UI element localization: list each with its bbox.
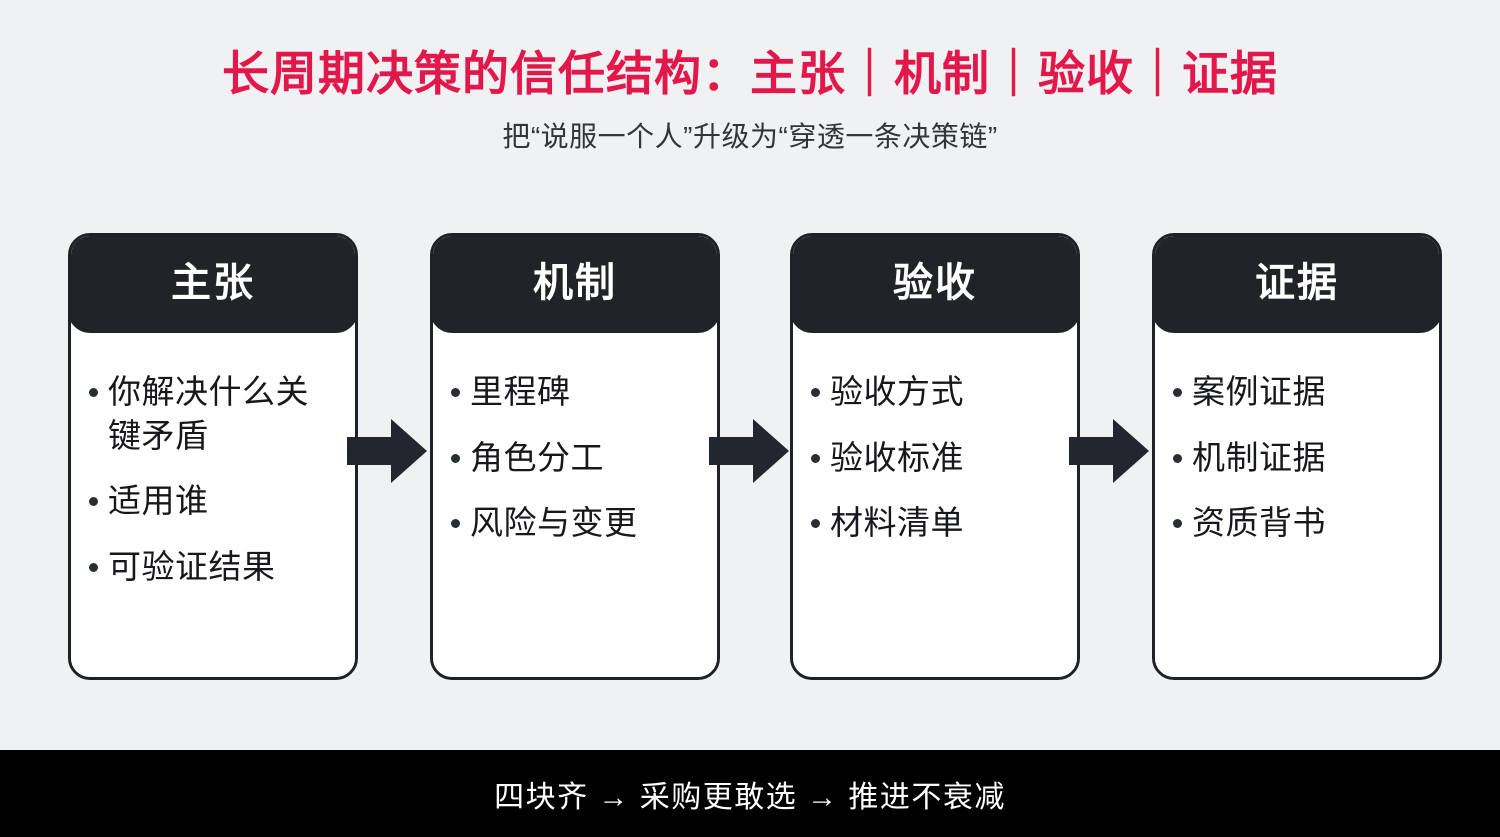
list-item: 机制证据 [1173,436,1425,480]
bullet-dot-icon [1173,519,1182,528]
footer-text: 四块齐 → 采购更敢选 → 推进不衰减 [494,772,1006,816]
bullet-dot-icon [1173,388,1182,397]
list-item: 材料清单 [811,501,1063,545]
card-acceptance[interactable]: 验收 验收方式 验收标准 材料清单 [790,233,1080,680]
list-item: 验收方式 [811,370,1063,414]
list-item-label: 验收标准 [830,436,964,480]
list-item-label: 材料清单 [830,501,964,545]
list-item: 案例证据 [1173,370,1425,414]
bullet-dot-icon [451,388,460,397]
list-item-label: 适用谁 [108,479,209,523]
bullet-dot-icon [451,454,460,463]
list-item: 你解决什么关键矛盾 [89,370,341,457]
card-mechanism-header-label: 机制 [533,263,617,303]
bullet-dot-icon [811,454,820,463]
list-item-label: 案例证据 [1192,370,1326,414]
card-claim-header-label: 主张 [171,263,255,303]
list-item: 适用谁 [89,479,341,523]
list-item: 资质背书 [1173,501,1425,545]
bullet-dot-icon [1173,454,1182,463]
arrow-right-icon [1069,415,1149,487]
list-item-label: 验收方式 [830,370,964,414]
list-item: 里程碑 [451,370,703,414]
list-item-label: 风险与变更 [470,501,638,545]
list-item: 验收标准 [811,436,1063,480]
bullet-dot-icon [89,563,98,572]
arrow-right-icon [347,415,427,487]
list-item-label: 角色分工 [470,436,604,480]
card-claim-header: 主张 [68,233,358,333]
list-item: 风险与变更 [451,501,703,545]
bullet-dot-icon [89,388,98,397]
card-claim-body: 你解决什么关键矛盾 适用谁 可验证结果 [71,336,355,677]
bullet-dot-icon [89,497,98,506]
slide-title: 长周期决策的信任结构：主张｜机制｜验收｜证据 [0,46,1500,101]
slide-header: 长周期决策的信任结构：主张｜机制｜验收｜证据 把“说服一个人”升级为“穿透一条决… [0,46,1500,155]
card-evidence-header-label: 证据 [1255,263,1339,303]
card-evidence-header: 证据 [1152,233,1442,333]
list-item: 可验证结果 [89,545,341,589]
bullet-dot-icon [451,519,460,528]
card-evidence-body: 案例证据 机制证据 资质背书 [1155,336,1439,677]
list-item-label: 可验证结果 [108,545,276,589]
list-item-label: 你解决什么关键矛盾 [108,370,341,457]
card-mechanism[interactable]: 机制 里程碑 角色分工 风险与变更 [430,233,720,680]
footer-bar: 四块齐 → 采购更敢选 → 推进不衰减 [0,750,1500,837]
card-mechanism-body: 里程碑 角色分工 风险与变更 [433,336,717,677]
card-acceptance-header: 验收 [790,233,1080,333]
slide-subtitle: 把“说服一个人”升级为“穿透一条决策链” [0,115,1500,155]
card-mechanism-header: 机制 [430,233,720,333]
card-acceptance-body: 验收方式 验收标准 材料清单 [793,336,1077,677]
list-item-label: 机制证据 [1192,436,1326,480]
card-claim[interactable]: 主张 你解决什么关键矛盾 适用谁 可验证结果 [68,233,358,680]
arrow-right-icon [709,415,789,487]
list-item-label: 里程碑 [470,370,571,414]
slide-canvas: 长周期决策的信任结构：主张｜机制｜验收｜证据 把“说服一个人”升级为“穿透一条决… [0,0,1500,837]
bullet-dot-icon [811,388,820,397]
list-item: 角色分工 [451,436,703,480]
list-item-label: 资质背书 [1192,501,1326,545]
bullet-dot-icon [811,519,820,528]
card-acceptance-header-label: 验收 [893,263,977,303]
card-evidence[interactable]: 证据 案例证据 机制证据 资质背书 [1152,233,1442,680]
